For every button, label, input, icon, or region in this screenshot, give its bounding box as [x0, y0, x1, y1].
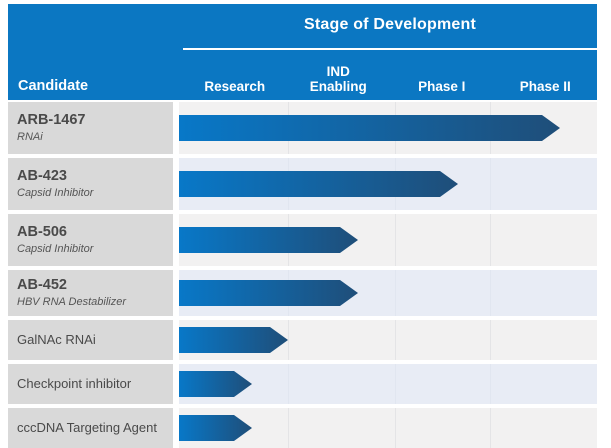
stage-track — [179, 320, 597, 360]
candidate-name: Checkpoint inhibitor — [17, 376, 173, 392]
table-row[interactable]: AB-423Capsid Inhibitor — [8, 158, 597, 210]
candidate-name: ARB-1467 — [17, 112, 173, 129]
column-divider-0 — [288, 408, 289, 448]
candidate-name: AB-452 — [17, 277, 173, 294]
candidate-name: AB-506 — [17, 224, 173, 241]
table-row[interactable]: GalNAc RNAi — [8, 320, 597, 360]
stage-header-research: Research — [183, 79, 287, 100]
stage-column-headers: Research IND Enabling Phase I Phase II — [183, 54, 597, 100]
candidate-modality: RNAi — [17, 130, 173, 145]
stage-header-phase-ii: Phase II — [494, 79, 598, 100]
table-row[interactable]: Checkpoint inhibitor — [8, 364, 597, 404]
candidate-modality: Capsid Inhibitor — [17, 242, 173, 257]
stage-track — [179, 158, 597, 210]
candidate-name-cell: GalNAc RNAi — [8, 320, 173, 360]
column-divider-2 — [490, 408, 491, 448]
pipeline-rows: ARB-1467RNAiAB-423Capsid InhibitorAB-506… — [8, 102, 597, 432]
stage-track — [179, 214, 597, 266]
candidate-column-header: Candidate — [18, 78, 88, 94]
stage-header-phase-ii-line2: Phase II — [494, 79, 598, 94]
pipeline-chart: Stage of Development Candidate Research … — [0, 0, 611, 437]
candidate-name: cccDNA Targeting Agent — [17, 420, 173, 436]
candidate-modality: HBV RNA Destabilizer — [17, 295, 173, 310]
stage-track — [179, 364, 597, 404]
progress-arrow-bar[interactable] — [179, 171, 458, 197]
column-divider-1 — [395, 214, 396, 266]
column-divider-1 — [395, 408, 396, 448]
column-divider-2 — [490, 214, 491, 266]
table-row[interactable]: AB-506Capsid Inhibitor — [8, 214, 597, 266]
column-divider-1 — [395, 270, 396, 316]
table-row[interactable]: ARB-1467RNAi — [8, 102, 597, 154]
stage-header-ind-enabling-line2: Enabling — [287, 79, 391, 94]
column-divider-0 — [288, 320, 289, 360]
progress-arrow-bar[interactable] — [179, 327, 288, 353]
stage-header-phase-i-line2: Phase I — [390, 79, 494, 94]
progress-arrow-bar[interactable] — [179, 227, 358, 253]
candidate-name-cell: AB-506Capsid Inhibitor — [8, 214, 173, 266]
candidate-modality: Capsid Inhibitor — [17, 186, 173, 201]
candidate-name-cell: AB-423Capsid Inhibitor — [8, 158, 173, 210]
candidate-name-cell: ARB-1467RNAi — [8, 102, 173, 154]
column-divider-0 — [288, 364, 289, 404]
progress-arrow-bar[interactable] — [179, 115, 560, 141]
stage-track — [179, 102, 597, 154]
column-divider-1 — [395, 364, 396, 404]
stage-of-development-title: Stage of Development — [183, 16, 597, 34]
column-divider-2 — [490, 320, 491, 360]
column-divider-2 — [490, 364, 491, 404]
progress-arrow-bar[interactable] — [179, 371, 252, 397]
stage-header-ind-enabling-line1: IND — [287, 64, 391, 79]
candidate-name: AB-423 — [17, 168, 173, 185]
stage-track — [179, 408, 597, 448]
candidate-name-cell: cccDNA Targeting Agent — [8, 408, 173, 448]
candidate-name-cell: Checkpoint inhibitor — [8, 364, 173, 404]
progress-arrow-bar[interactable] — [179, 415, 252, 441]
table-row[interactable]: cccDNA Targeting Agent — [8, 408, 597, 448]
column-divider-2 — [490, 270, 491, 316]
header-divider-rule — [183, 48, 597, 50]
chart-header: Stage of Development Candidate Research … — [8, 4, 597, 100]
progress-arrow-bar[interactable] — [179, 280, 358, 306]
table-row[interactable]: AB-452HBV RNA Destabilizer — [8, 270, 597, 316]
column-divider-2 — [490, 158, 491, 210]
candidate-name-cell: AB-452HBV RNA Destabilizer — [8, 270, 173, 316]
stage-header-phase-i: Phase I — [390, 79, 494, 100]
stage-track — [179, 270, 597, 316]
stage-header-ind-enabling: IND Enabling — [287, 64, 391, 100]
candidate-name: GalNAc RNAi — [17, 332, 173, 348]
column-divider-1 — [395, 320, 396, 360]
stage-header-research-line2: Research — [183, 79, 287, 94]
